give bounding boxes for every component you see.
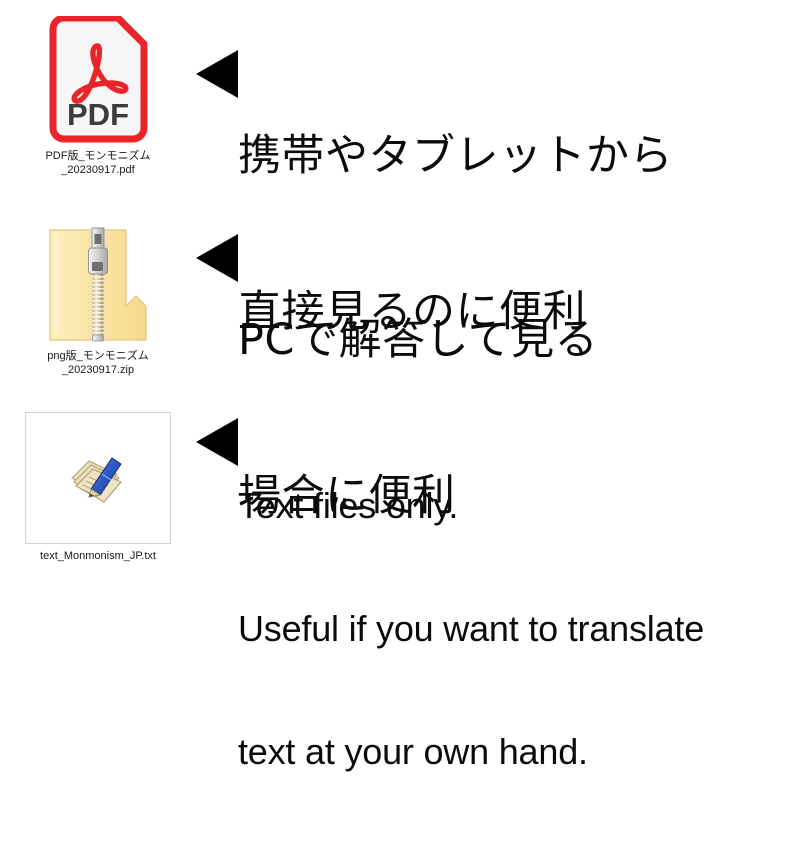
- callout-text: Text files only. Useful if you want to t…: [196, 412, 786, 854]
- file-name-zip-line2: _20230917.zip: [18, 363, 178, 377]
- file-name-pdf: PDF版_モンモニズム _20230917.pdf: [18, 149, 178, 177]
- pdf-icon-label: PDF: [67, 97, 129, 132]
- caption-zip-line1: PCで解答して見る: [238, 314, 598, 366]
- text-icon-frame[interactable]: [25, 412, 171, 544]
- file-item-zip[interactable]: png版_モンモニズム _20230917.zip: [0, 222, 196, 377]
- file-name-pdf-line1: PDF版_モンモニズム: [18, 149, 178, 163]
- caption-pdf-line1: 携帯やタブレットから: [238, 130, 673, 182]
- file-item-text[interactable]: text_Monmonism_JP.txt: [0, 412, 196, 563]
- file-name-zip: png版_モンモニズム _20230917.zip: [18, 349, 178, 377]
- text-document-pencil-icon[interactable]: [69, 452, 127, 504]
- file-row-text: text_Monmonism_JP.txt Text files only. U…: [0, 412, 786, 854]
- pdf-file-icon[interactable]: PDF: [44, 16, 152, 144]
- file-name-text-line1: text_Monmonism_JP.txt: [18, 549, 178, 563]
- caption-text: Text files only. Useful if you want to t…: [238, 403, 704, 854]
- zip-folder-icon[interactable]: [48, 222, 148, 344]
- caption-text-line2: Useful if you want to translate: [238, 608, 704, 649]
- left-triangle-icon: [196, 418, 238, 466]
- file-name-text: text_Monmonism_JP.txt: [18, 549, 178, 563]
- file-name-pdf-line2: _20230917.pdf: [18, 163, 178, 177]
- left-triangle-icon: [196, 234, 238, 282]
- file-name-zip-line1: png版_モンモニズム: [18, 349, 178, 363]
- caption-text-line3: text at your own hand.: [238, 731, 704, 772]
- pdf-icon-slot[interactable]: PDF: [44, 16, 152, 144]
- file-item-pdf[interactable]: PDF PDF版_モンモニズム _20230917.pdf: [0, 16, 196, 177]
- zip-icon-slot[interactable]: [48, 222, 148, 344]
- left-triangle-icon: [196, 50, 238, 98]
- caption-text-line1: Text files only.: [238, 485, 704, 526]
